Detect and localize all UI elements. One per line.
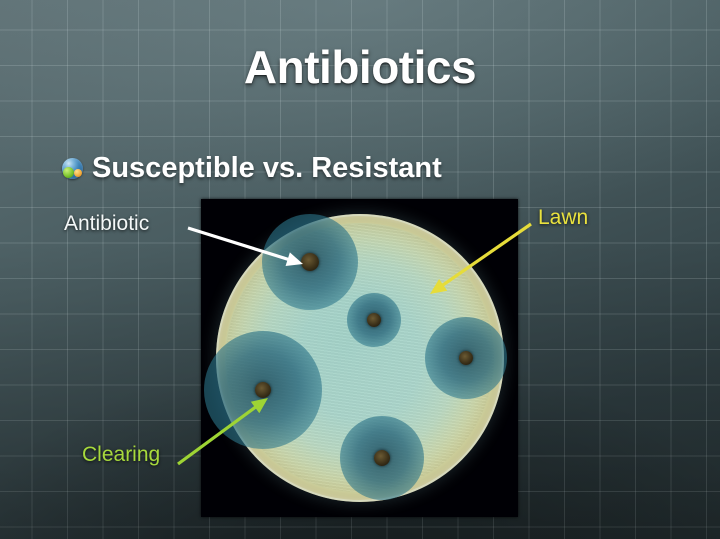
disc-left-large [255,382,271,398]
bullet-item-label: Susceptible vs. Resistant [92,152,442,185]
petri-dish-photo [201,199,518,517]
page-title: Antibiotics [0,40,720,94]
disc-right [459,351,473,365]
callout-label-clearing: Clearing [82,443,160,467]
disc-center [367,313,381,327]
bullet-list-item: Susceptible vs. Resistant [62,152,442,185]
disc-top [301,253,319,271]
presentation-slide: Antibiotics Susceptible vs. Resistant An… [0,0,720,539]
colored-orb-bullet-icon [62,158,83,179]
callout-label-antibiotic: Antibiotic [64,212,149,236]
callout-label-lawn: Lawn [538,206,588,230]
disc-bottom [374,450,390,466]
